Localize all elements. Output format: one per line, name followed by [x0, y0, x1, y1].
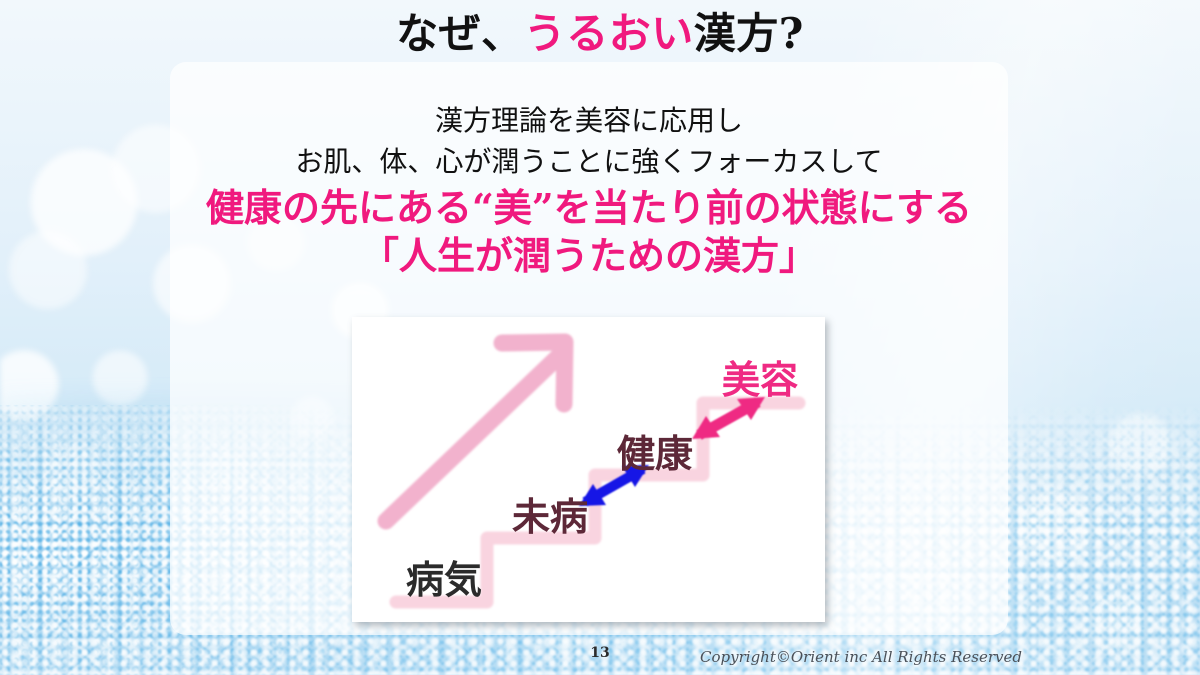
copy-line-3: 健康の先にある“美”を当たり前の状態にする	[170, 184, 1008, 232]
step-label-kenkou: 健康	[617, 431, 693, 476]
title-highlight: うるおい	[524, 9, 694, 58]
stairs-diagram: 病気 未病 健康 美容	[352, 317, 825, 622]
step-label-biyou: 美容	[722, 357, 798, 402]
slide-canvas: なぜ、うるおい漢方? 漢方理論を美容に応用し お肌、体、心が潤うことに強くフォー…	[0, 0, 1200, 675]
step-label-mibyou: 未病	[512, 494, 588, 539]
slide-title: なぜ、うるおい漢方?	[0, 6, 1200, 62]
step-label-byouki: 病気	[406, 557, 482, 602]
title-suffix: 漢方?	[694, 9, 804, 58]
copyright-text: Copyright©Orient inc All Rights Reserved	[700, 648, 1022, 666]
copy-line-2: お肌、体、心が潤うことに強くフォーカスして	[170, 141, 1008, 182]
copy-line-1: 漢方理論を美容に応用し	[170, 100, 1008, 141]
copy-line-4: 「人生が潤うための漢方」	[170, 232, 1008, 280]
figure-card: 病気 未病 健康 美容	[352, 317, 825, 622]
title-prefix: なぜ、	[396, 9, 524, 58]
body-copy: 漢方理論を美容に応用し お肌、体、心が潤うことに強くフォーカスして 健康の先にあ…	[170, 100, 1008, 280]
page-number: 13	[560, 645, 640, 661]
